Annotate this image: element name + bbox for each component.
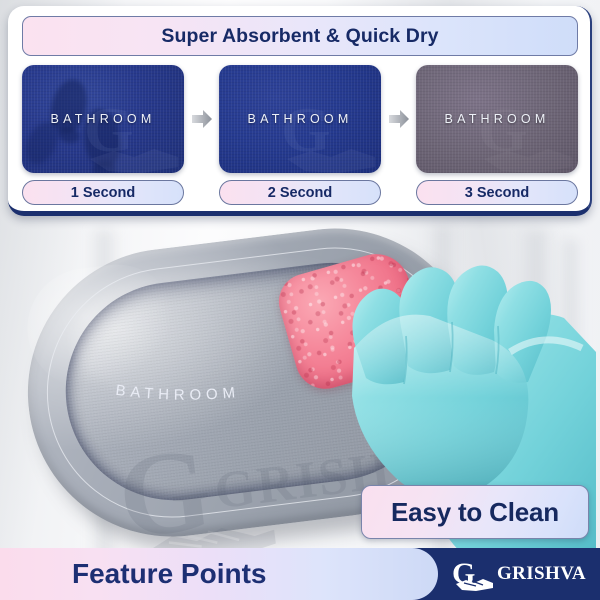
brand-name: GRISHVA — [497, 563, 586, 585]
swatch-1-label: BATHROOM — [51, 112, 156, 126]
second-label-row: 1 Second 2 Second 3 Second — [22, 180, 578, 206]
swatch-watermark-icon: G — [474, 89, 578, 173]
banner-title: Super Absorbent & Quick Dry — [161, 25, 438, 48]
arrow-right-icon — [388, 107, 410, 131]
brand-logo: G GRISHVA — [452, 557, 586, 591]
feature-points-title: Feature Points — [72, 558, 266, 590]
swatch-watermark-icon: G — [277, 89, 381, 173]
swatch-3-second: G BATHROOM — [416, 65, 578, 173]
swatch-1-second: G BATHROOM — [22, 65, 184, 173]
grishva-g-handshake-logo-icon: G — [452, 557, 496, 591]
swatch-3-label: BATHROOM — [445, 112, 550, 126]
feature-card: Super Absorbent & Quick Dry G BATHROOM — [8, 6, 592, 216]
swatch-2-label: BATHROOM — [248, 112, 353, 126]
caption-3-second: 3 Second — [416, 180, 578, 205]
product-marketing-image: BATHROOM G GRISHVA — [0, 0, 600, 600]
bottom-bar: Feature Points G GRISHVA — [0, 548, 600, 600]
swatch-2-second: G BATHROOM — [219, 65, 381, 173]
banner-super-absorbent: Super Absorbent & Quick Dry — [22, 16, 578, 56]
caption-1-second: 1 Second — [22, 180, 184, 205]
caption-2-second: 2 Second — [219, 180, 381, 205]
swatch-row: G BATHROOM — [22, 64, 578, 174]
arrow-right-icon — [191, 107, 213, 131]
easy-to-clean-badge: Easy to Clean — [361, 485, 589, 539]
swatch-watermark-icon: G — [80, 89, 184, 173]
easy-to-clean-label: Easy to Clean — [391, 497, 559, 528]
